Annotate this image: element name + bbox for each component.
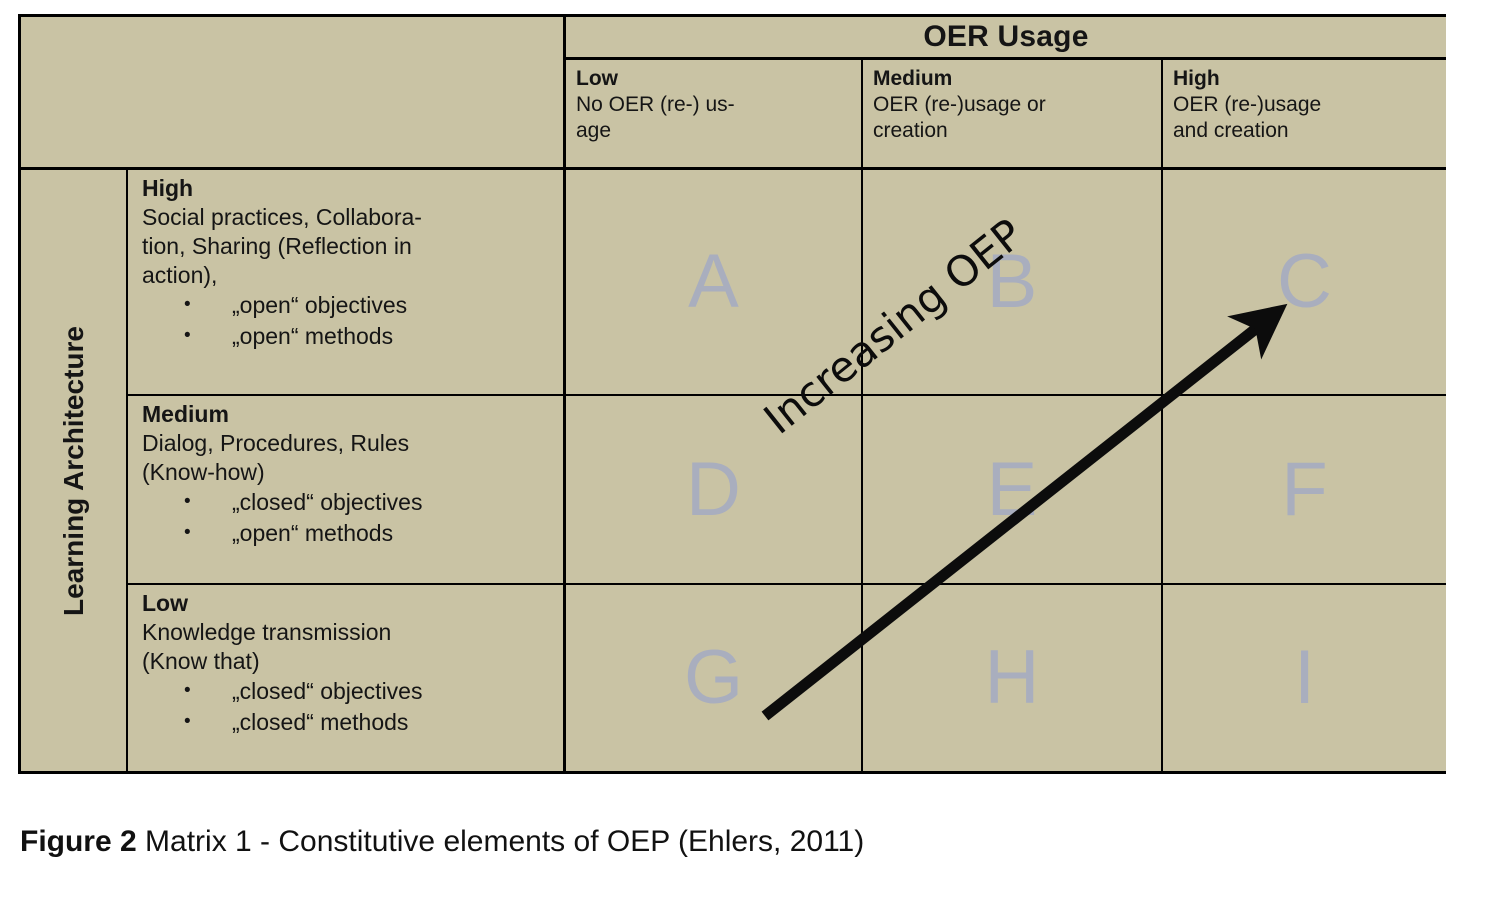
column-header-high: High OER (re-)usage and creation — [1163, 60, 1446, 170]
matrix-cell-letter: D — [686, 452, 741, 528]
column-axis-title: OER Usage — [923, 20, 1088, 54]
matrix-cell-i: I — [1163, 585, 1446, 771]
matrix-cell-letter: H — [985, 640, 1040, 716]
figure-caption-label: Figure 2 — [20, 825, 137, 858]
column-header-low-level: Low — [576, 66, 853, 92]
row-header-medium-desc: Dialog, Procedures, Rules (Know-how) — [142, 429, 557, 487]
list-item: „open“ methods — [142, 321, 557, 352]
matrix-cell-letter: C — [1277, 244, 1332, 320]
row-header-medium: Medium Dialog, Procedures, Rules (Know-h… — [128, 396, 566, 585]
matrix-cell-d: D — [566, 396, 863, 585]
list-item: „closed“ methods — [142, 707, 557, 738]
oep-matrix-table: OER Usage Low No OER (re-) us- age Mediu… — [18, 14, 1446, 774]
row-header-medium-level: Medium — [142, 400, 557, 429]
matrix-corner-cell — [21, 17, 566, 170]
figure-caption-text: Matrix 1 - Constitutive elements of OEP … — [137, 825, 865, 858]
column-header-high-desc: OER (re-)usage and creation — [1173, 92, 1438, 144]
row-axis-title-cell: Learning Architecture — [21, 170, 128, 771]
column-header-low-desc: No OER (re-) us- age — [576, 92, 853, 144]
matrix-cell-letter: G — [684, 640, 743, 716]
column-header-low: Low No OER (re-) us- age — [566, 60, 863, 170]
row-header-low-level: Low — [142, 589, 557, 618]
matrix-cell-e: E — [863, 396, 1163, 585]
column-header-medium: Medium OER (re-)usage or creation — [863, 60, 1163, 170]
row-header-low-desc: Knowledge transmission (Know that) — [142, 618, 557, 676]
matrix-cell-letter: F — [1281, 452, 1327, 528]
matrix-cell-letter: E — [987, 452, 1038, 528]
row-header-low: Low Knowledge transmission (Know that) „… — [128, 585, 566, 771]
row-header-high-desc: Social practices, Collabora- tion, Shari… — [142, 203, 557, 290]
column-axis-title-cell: OER Usage — [566, 17, 1446, 60]
matrix-cell-letter: A — [688, 244, 739, 320]
matrix-cell-h: H — [863, 585, 1163, 771]
matrix-cell-c: C — [1163, 170, 1446, 396]
row-header-high-bullets: „open“ objectives „open“ methods — [142, 290, 557, 352]
column-header-high-level: High — [1173, 66, 1438, 92]
list-item: „open“ methods — [142, 518, 557, 549]
list-item: „closed“ objectives — [142, 487, 557, 518]
row-axis-title: Learning Architecture — [58, 326, 90, 616]
matrix-cell-g: G — [566, 585, 863, 771]
row-header-high: High Social practices, Collabora- tion, … — [128, 170, 566, 396]
list-item: „closed“ objectives — [142, 676, 557, 707]
matrix-cell-letter: I — [1294, 640, 1315, 716]
matrix-cell-f: F — [1163, 396, 1446, 585]
list-item: „open“ objectives — [142, 290, 557, 321]
row-header-medium-bullets: „closed“ objectives „open“ methods — [142, 487, 557, 549]
figure-container: OER Usage Low No OER (re-) us- age Mediu… — [0, 0, 1488, 904]
row-header-high-level: High — [142, 174, 557, 203]
column-header-medium-level: Medium — [873, 66, 1153, 92]
column-header-medium-desc: OER (re-)usage or creation — [873, 92, 1153, 144]
matrix-grid: OER Usage Low No OER (re-) us- age Mediu… — [21, 17, 1443, 771]
figure-caption: Figure 2 Matrix 1 - Constitutive element… — [20, 825, 864, 859]
row-header-low-bullets: „closed“ objectives „closed“ methods — [142, 676, 557, 738]
